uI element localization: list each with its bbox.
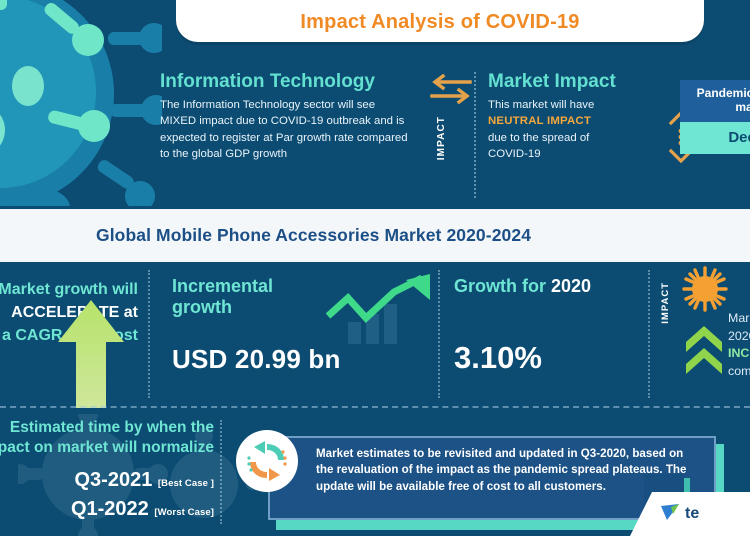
market-title: Global Mobile Phone Accessories Market 2… xyxy=(96,225,531,246)
incremental-label-line1: Incremental xyxy=(172,276,273,296)
best-case-row: Q3-2021 [Best Case ] xyxy=(0,469,214,492)
normalize-block: Estimated time by when the impact on mar… xyxy=(0,418,214,521)
it-body: The Information Technology sector will s… xyxy=(160,97,414,163)
worst-case-value: Q1-2022 xyxy=(71,498,149,520)
impact-arrow-column: IMPACT xyxy=(422,72,480,200)
market-impact-block: Market Impact This market will have NEUT… xyxy=(480,72,658,200)
impact-panel-line3: compared to 2019 xyxy=(728,364,750,378)
market-impact-highlight: NEUTRAL IMPACT xyxy=(488,115,591,127)
two-way-arrows-icon xyxy=(426,74,476,104)
trend-up-chart-icon xyxy=(326,274,446,346)
market-title-band: Global Mobile Phone Accessories Market 2… xyxy=(0,206,750,262)
impact-panel-line1: Market growth in xyxy=(728,311,750,325)
pandemic-impact-column: Pandemic impact on market Decline xyxy=(658,72,750,200)
impact-panel-line2: 2020 likely to xyxy=(728,329,750,343)
dashed-divider xyxy=(0,406,750,408)
pandemic-box-value: Decline xyxy=(680,122,750,154)
incremental-label-line2: growth xyxy=(172,297,232,317)
double-chevron-up-icon xyxy=(684,324,724,380)
pandemic-box-head: Pandemic impact on market xyxy=(680,80,750,122)
normalize-title-line1: Estimated time by when the xyxy=(10,419,214,436)
impact-panel-text: Market growth in 2020 likely to INCREASE… xyxy=(728,310,750,380)
impact-vertical-label: IMPACT xyxy=(436,116,447,160)
cagr-column: Market growth will ACCELERATE at a CAGR … xyxy=(0,262,150,406)
best-case-value: Q3-2021 xyxy=(74,469,152,491)
refresh-cycle-icon xyxy=(236,430,298,492)
growth-2020-label: Growth for 2020 xyxy=(454,276,591,297)
page-title: Impact Analysis of COVID-19 xyxy=(300,11,579,42)
top-columns: Information Technology The Information T… xyxy=(160,72,750,200)
it-heading: Information Technology xyxy=(160,72,414,92)
market-impact-line3: COVID-19 xyxy=(488,148,541,160)
worst-case-label: [Worst Case] xyxy=(154,507,214,518)
market-impact-line1: This market will have xyxy=(488,99,594,111)
technavio-logo-text: te xyxy=(685,505,699,523)
cagr-line1: Market growth will xyxy=(0,281,138,298)
information-technology-block: Information Technology The Information T… xyxy=(160,72,422,200)
worst-case-row: Q1-2022 [Worst Case] xyxy=(0,498,214,521)
pandemic-impact-box: Pandemic impact on market Decline xyxy=(680,80,750,154)
growth-2020-year: 2020 xyxy=(551,276,591,296)
impact-panel-highlight: INCREASE xyxy=(728,346,750,360)
incremental-growth-column: Incremental growth xyxy=(150,262,440,406)
technavio-logo-icon xyxy=(660,503,680,526)
bottom-band: Estimated time by when the impact on mar… xyxy=(0,408,750,536)
title-card: Impact Analysis of COVID-19 xyxy=(176,0,704,42)
up-arrow-icon xyxy=(56,298,126,408)
growth-2020-label-prefix: Growth for xyxy=(454,276,551,296)
growth-2020-value: 3.10% xyxy=(454,340,542,376)
impact-panel-vertical-label: IMPACT xyxy=(660,282,671,324)
infographic-poster: Impact Analysis of COVID-19 Information … xyxy=(0,0,750,536)
best-case-label: [Best Case ] xyxy=(158,478,214,489)
dotted-divider xyxy=(474,72,476,198)
market-impact-line2: due to the spread of xyxy=(488,132,589,144)
normalize-title-line2: impact on market will normalize xyxy=(0,439,214,456)
normalize-title: Estimated time by when the impact on mar… xyxy=(0,418,214,459)
impact-panel-column: IMPACT xyxy=(650,262,750,406)
incremental-label: Incremental growth xyxy=(172,276,273,318)
bottom-dotted-divider xyxy=(220,420,222,524)
virus-sun-icon xyxy=(682,266,728,312)
incremental-value: USD 20.99 bn xyxy=(172,344,341,375)
stats-band: Market growth will ACCELERATE at a CAGR … xyxy=(0,262,750,406)
market-impact-heading: Market Impact xyxy=(488,72,658,92)
growth-2020-column: Growth for 2020 3.10% xyxy=(440,262,650,406)
